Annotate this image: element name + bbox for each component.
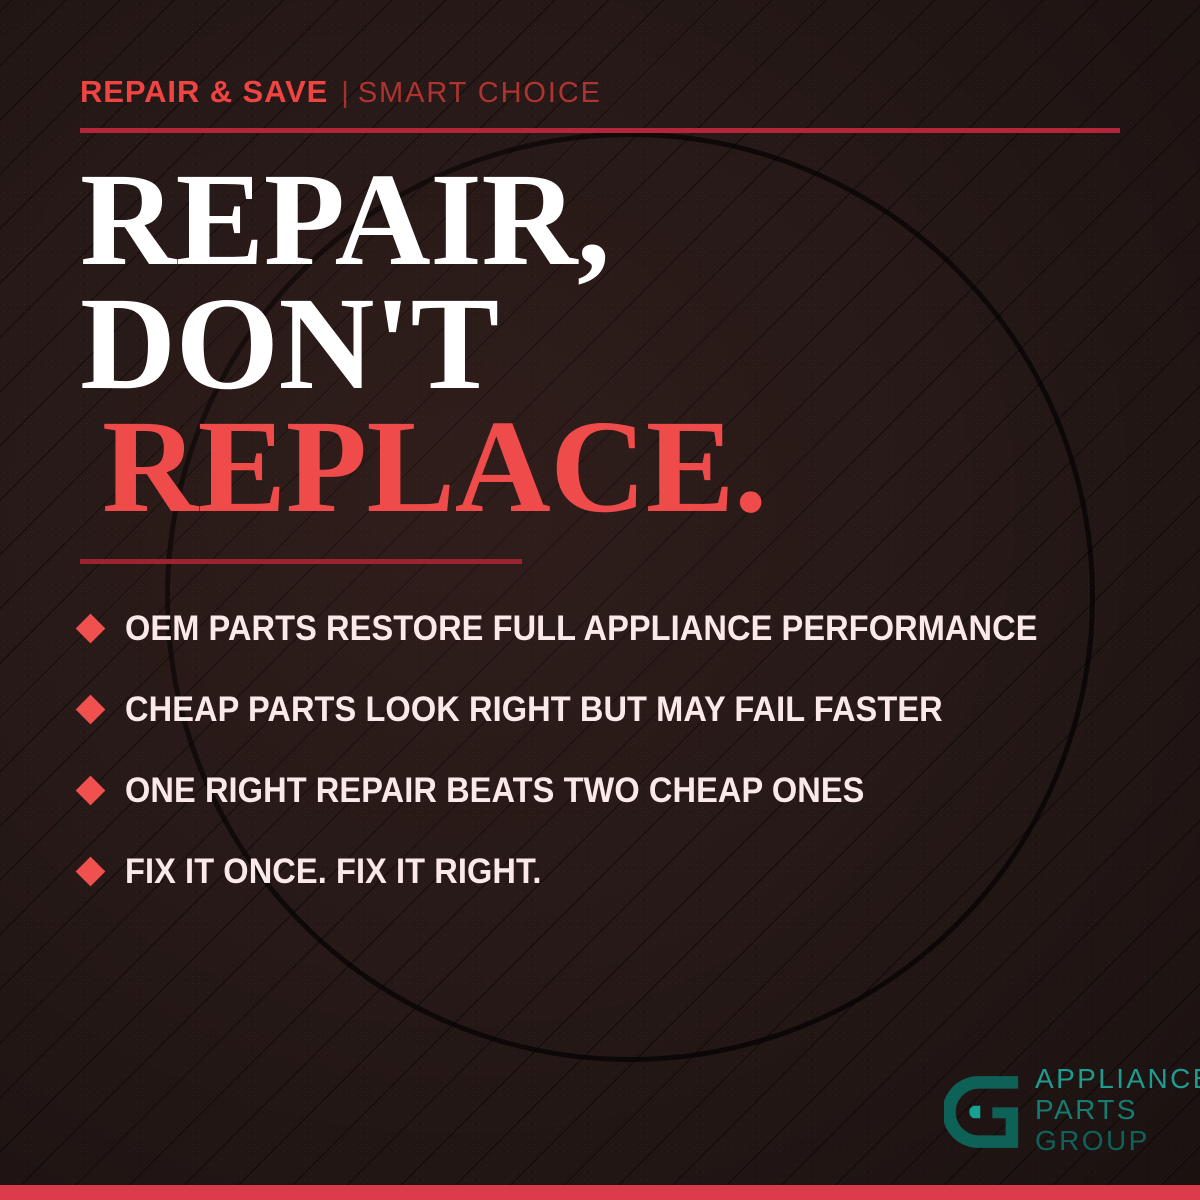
kicker-sub-label: SMART CHOICE <box>358 77 602 110</box>
brand-logo: APPLIANCE PARTS GROUP <box>944 1065 1200 1158</box>
list-item-label: OEM PARTS RESTORE FULL APPLIANCE PERFORM… <box>125 609 1038 649</box>
brand-wordmark: APPLIANCE PARTS GROUP <box>1035 1065 1200 1158</box>
page-title: REPAIR, DON'T REPLACE. <box>80 158 1140 529</box>
poster-canvas: REPAIR & SAVE | SMART CHOICE REPAIR, DON… <box>0 0 1200 1200</box>
list-item-label: ONE RIGHT REPAIR BEATS TWO CHEAP ONES <box>125 771 864 811</box>
list-item-label: CHEAP PARTS LOOK RIGHT BUT MAY FAIL FAST… <box>125 690 943 730</box>
list-item: OEM PARTS RESTORE FULL APPLIANCE PERFORM… <box>80 588 1160 669</box>
headline-line-3: REPLACE. <box>80 405 1140 529</box>
brand-line-appliance: APPLIANCE <box>1035 1065 1200 1093</box>
list-item: FIX IT ONCE. FIX IT RIGHT. <box>80 831 1160 912</box>
kicker-divider-rule <box>80 128 1120 133</box>
headline-divider-rule <box>80 559 522 564</box>
brand-line-group: GROUP <box>1035 1127 1200 1155</box>
diamond-bullet-icon <box>76 776 106 806</box>
brand-line-parts: PARTS <box>1035 1096 1200 1124</box>
benefits-list: OEM PARTS RESTORE FULL APPLIANCE PERFORM… <box>80 588 1160 912</box>
list-item: CHEAP PARTS LOOK RIGHT BUT MAY FAIL FAST… <box>80 669 1160 750</box>
footer-accent-bar <box>0 1185 1200 1200</box>
diamond-bullet-icon <box>76 695 106 725</box>
list-item: ONE RIGHT REPAIR BEATS TWO CHEAP ONES <box>80 750 1160 831</box>
headline-line-2: DON'T <box>80 282 1140 406</box>
list-item-label: FIX IT ONCE. FIX IT RIGHT. <box>125 852 542 892</box>
kicker-main-label: REPAIR & SAVE <box>80 74 328 110</box>
diamond-bullet-icon <box>76 857 106 887</box>
headline-line-1: REPAIR, <box>80 158 1140 282</box>
kicker-eyebrow: REPAIR & SAVE | SMART CHOICE <box>80 74 602 110</box>
diamond-bullet-icon <box>76 614 106 644</box>
kicker-separator: | <box>341 77 349 110</box>
g-monogram-icon <box>944 1073 1022 1151</box>
